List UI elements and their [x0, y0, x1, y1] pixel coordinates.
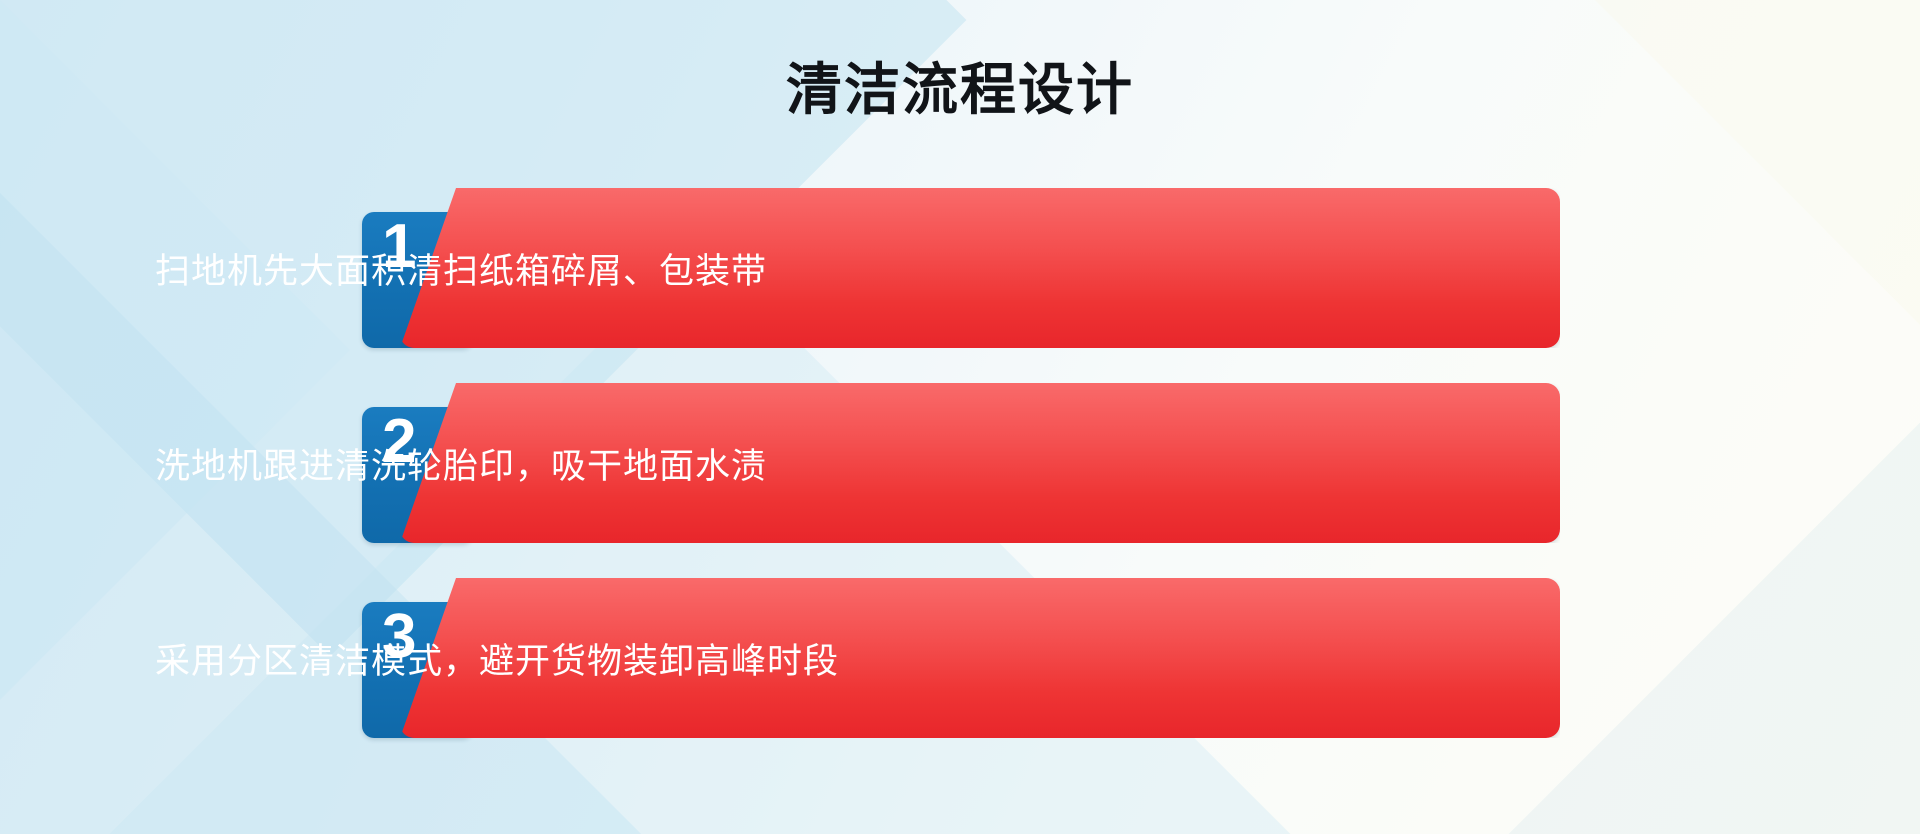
- step-description: 洗地机跟进清洗轮胎印，吸干地面水渍: [155, 383, 767, 543]
- step-row[interactable]: 1 扫地机先大面积清扫纸箱碎屑、包装带: [0, 188, 1920, 348]
- step-row[interactable]: 2 洗地机跟进清洗轮胎印，吸干地面水渍: [0, 383, 1920, 543]
- page-title: 清洁流程设计: [0, 56, 1920, 123]
- steps-list: 1 扫地机先大面积清扫纸箱碎屑、包装带 2 洗地机跟进清洗轮胎印，吸干地面水渍 …: [0, 188, 1920, 738]
- step-row[interactable]: 3 采用分区清洁模式，避开货物装卸高峰时段: [0, 578, 1920, 738]
- step-description: 采用分区清洁模式，避开货物装卸高峰时段: [155, 578, 839, 738]
- slide-canvas: 清洁流程设计 1 扫地机先大面积清扫纸箱碎屑、包装带 2 洗地机跟进清洗轮胎印，…: [0, 0, 1920, 834]
- step-description: 扫地机先大面积清扫纸箱碎屑、包装带: [155, 188, 767, 348]
